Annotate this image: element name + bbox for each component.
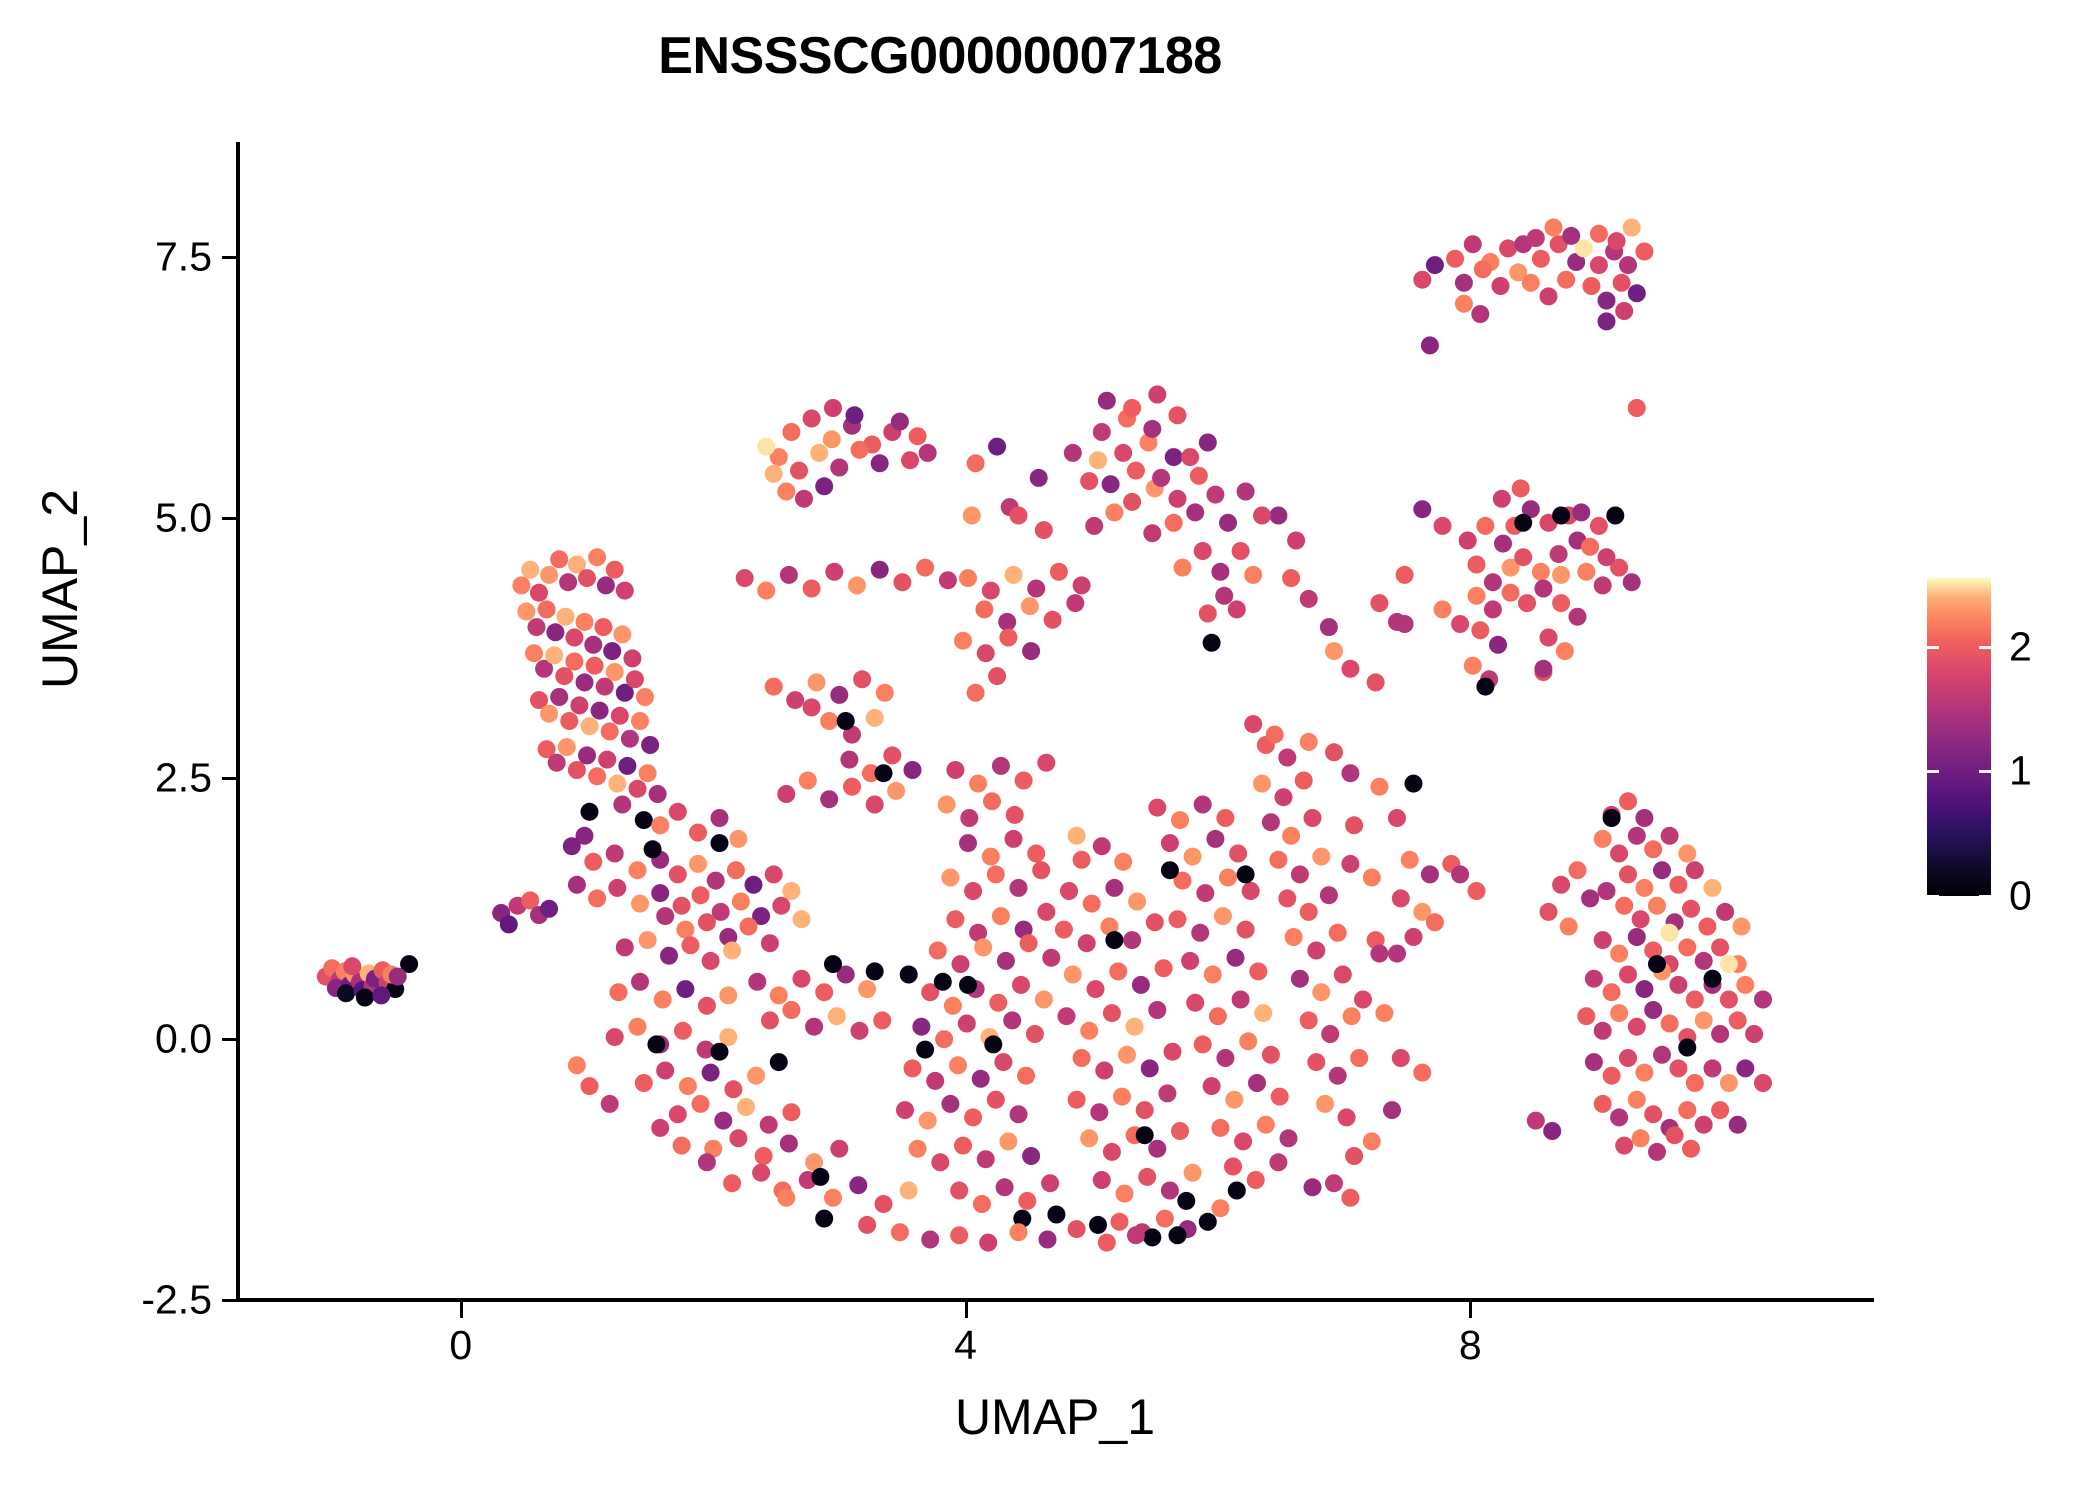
scatter-point — [1522, 274, 1540, 292]
scatter-point — [979, 1234, 997, 1252]
scatter-point — [1632, 910, 1650, 928]
scatter-point — [337, 984, 355, 1002]
scatter-point — [1603, 1067, 1621, 1085]
scatter-point — [765, 865, 783, 883]
scatter-point — [1590, 256, 1608, 274]
scatter-point — [904, 761, 922, 779]
scatter-point — [893, 573, 911, 591]
scatter-point — [1156, 1210, 1174, 1228]
scatter-point — [1421, 336, 1439, 354]
scatter-point — [1581, 538, 1599, 556]
scatter-point — [558, 738, 576, 756]
scatter-point — [1468, 882, 1486, 900]
scatter-point — [565, 653, 583, 671]
scatter-point — [1341, 660, 1359, 678]
scatter-point — [967, 454, 985, 472]
y-tick-label: -2.5 — [141, 1277, 212, 1324]
scatter-point — [1229, 845, 1247, 863]
scatter-point — [934, 973, 952, 991]
scatter-point — [1446, 250, 1464, 268]
scatter-point — [1022, 642, 1040, 660]
scatter-point — [1181, 952, 1199, 970]
scatter-point — [584, 853, 602, 871]
scatter-point — [1090, 1103, 1108, 1121]
scatter-point — [594, 618, 612, 636]
scatter-point — [891, 413, 909, 431]
scatter-point — [982, 582, 1000, 600]
scatter-point — [578, 569, 596, 587]
scatter-point — [623, 649, 641, 667]
scatter-point — [1237, 483, 1255, 501]
scatter-point — [1165, 448, 1183, 466]
scatter-point — [1247, 1171, 1265, 1189]
scatter-point — [1590, 225, 1608, 243]
scatter-point — [848, 576, 866, 594]
scatter-point — [1089, 451, 1107, 469]
scatter-point — [732, 893, 750, 911]
scatter-point — [1552, 507, 1570, 525]
scatter-point — [1577, 1007, 1595, 1025]
scatter-point — [597, 576, 615, 594]
scatter-point — [938, 796, 956, 814]
scatter-point — [1113, 1088, 1131, 1106]
scatter-point — [1648, 955, 1666, 973]
scatter-point — [1169, 490, 1187, 508]
scatter-point — [901, 451, 919, 469]
scatter-point — [1594, 1022, 1612, 1040]
scatter-point — [608, 879, 626, 897]
scatter-point — [689, 824, 707, 842]
scatter-point — [1635, 980, 1653, 998]
scatter-point — [873, 1011, 891, 1029]
scatter-point — [1300, 1011, 1318, 1029]
scatter-point — [1143, 420, 1161, 438]
scatter-point — [988, 667, 1006, 685]
scatter-point — [1089, 1216, 1107, 1234]
scatter-point — [629, 861, 647, 879]
scatter-point — [1572, 503, 1590, 521]
scatter-point — [1532, 250, 1550, 268]
scatter-point — [1413, 271, 1431, 289]
scatter-point — [723, 1174, 741, 1192]
scatter-point — [1711, 1101, 1729, 1119]
scatter-point — [1073, 851, 1091, 869]
scatter-point — [825, 563, 843, 581]
scatter-point — [1421, 865, 1439, 883]
scatter-point — [1027, 580, 1045, 598]
scatter-point — [525, 644, 543, 662]
scatter-point — [1109, 962, 1127, 980]
scatter-point — [1686, 1074, 1704, 1092]
scatter-point — [606, 845, 624, 863]
scatter-point — [1199, 434, 1217, 452]
scatter-point — [1148, 1140, 1166, 1158]
scatter-point — [1543, 1122, 1561, 1140]
scatter-point — [811, 1168, 829, 1186]
scatter-point — [954, 1137, 972, 1155]
scatter-point — [853, 670, 871, 688]
scatter-point — [1184, 1164, 1202, 1182]
scatter-point — [568, 1056, 586, 1074]
scatter-point — [500, 915, 518, 933]
scatter-point — [772, 897, 790, 915]
scatter-point — [803, 410, 821, 428]
scatter-point — [1534, 580, 1552, 598]
scatter-point — [793, 970, 811, 988]
scatter-point — [1064, 966, 1082, 984]
scatter-point — [1199, 1213, 1217, 1231]
scatter-point — [1164, 1043, 1182, 1061]
scatter-point — [830, 459, 848, 477]
scatter-point — [1136, 1126, 1154, 1144]
scatter-point — [1619, 256, 1637, 274]
scatter-point — [1285, 928, 1303, 946]
scatter-point — [1603, 809, 1621, 827]
scatter-point — [1585, 970, 1603, 988]
scatter-point — [540, 900, 558, 918]
scatter-point — [644, 840, 662, 858]
scatter-point — [1367, 673, 1385, 691]
scatter-point — [752, 1164, 770, 1182]
y-tick-mark — [222, 1299, 238, 1302]
scatter-point — [1341, 1189, 1359, 1207]
scatter-point — [1704, 1059, 1722, 1077]
scatter-point — [1228, 600, 1246, 618]
scatter-point — [1068, 1091, 1086, 1109]
scatter-point — [1669, 876, 1687, 894]
scatter-point — [1237, 865, 1255, 883]
scatter-point — [1141, 1059, 1159, 1077]
scatter-point — [900, 966, 918, 984]
scatter-point — [559, 573, 577, 591]
scatter-point — [1186, 994, 1204, 1012]
scatter-point — [588, 767, 606, 785]
scatter-point — [1312, 848, 1330, 866]
scatter-point — [1550, 545, 1568, 563]
scatter-point — [1022, 1147, 1040, 1165]
scatter-point — [1729, 1011, 1747, 1029]
scatter-point — [1266, 726, 1284, 744]
scatter-point — [992, 907, 1010, 925]
scatter-point — [1224, 1158, 1242, 1176]
scatter-point — [755, 1147, 773, 1165]
scatter-point — [676, 980, 694, 998]
scatter-point — [1729, 1116, 1747, 1134]
scatter-point — [1455, 295, 1473, 313]
scatter-point — [921, 1231, 939, 1249]
scatter-point — [517, 603, 535, 621]
scatter-point — [1648, 1143, 1666, 1161]
scatter-point — [883, 746, 901, 764]
scatter-point — [941, 869, 959, 887]
scatter-point — [782, 1103, 800, 1121]
x-axis-title: UMAP_1 — [236, 1388, 1874, 1446]
y-tick-mark — [222, 777, 238, 780]
scatter-point — [1560, 918, 1578, 936]
scatter-point — [656, 1062, 674, 1080]
scatter-point — [1711, 938, 1729, 956]
scatter-point — [904, 1059, 922, 1077]
colorbar-label: 0 — [2009, 873, 2032, 920]
scatter-point — [581, 1077, 599, 1095]
scatter-point — [969, 775, 987, 793]
scatter-point — [988, 438, 1006, 456]
scatter-point — [616, 938, 634, 956]
scatter-point — [1021, 597, 1039, 615]
scatter-point — [654, 991, 672, 1009]
scatter-point — [1405, 775, 1423, 793]
scatter-point — [941, 1095, 959, 1113]
scatter-point — [1720, 1074, 1738, 1092]
scatter-point — [1678, 845, 1696, 863]
scatter-point — [1341, 855, 1359, 873]
scatter-point — [1615, 1137, 1633, 1155]
scatter-point — [1215, 587, 1233, 605]
scatter-point — [959, 976, 977, 994]
scatter-point — [1648, 897, 1666, 915]
scatter-point — [1644, 840, 1662, 858]
scatter-point — [1055, 921, 1073, 939]
scatter-point — [1005, 566, 1023, 584]
y-tick-mark — [222, 517, 238, 520]
page-title: ENSSSCG00000007188 — [0, 26, 1880, 86]
scatter-point — [719, 986, 737, 1004]
colorbar-label: 2 — [2009, 623, 2032, 670]
scatter-point — [1191, 924, 1209, 942]
scatter-point — [777, 1189, 795, 1207]
x-axis-line — [236, 1298, 1874, 1302]
scatter-point — [1249, 962, 1267, 980]
scatter-point — [1278, 749, 1296, 767]
scatter-point — [891, 1223, 909, 1241]
scatter-point — [1610, 1004, 1628, 1022]
scatter-point — [606, 1028, 624, 1046]
scatter-point — [919, 1112, 937, 1130]
scatter-point — [1666, 1126, 1684, 1144]
scatter-point — [1161, 861, 1179, 879]
scatter-point — [1321, 1025, 1339, 1043]
scatter-point — [1623, 573, 1641, 591]
scatter-points-layer — [240, 142, 1874, 1300]
y-tick-label: 2.5 — [155, 755, 212, 802]
scatter-point — [931, 1153, 949, 1171]
scatter-point — [1396, 566, 1414, 584]
scatter-point — [711, 1043, 729, 1061]
scatter-point — [1181, 448, 1199, 466]
scatter-point — [1527, 1112, 1545, 1130]
scatter-point — [1307, 1053, 1325, 1071]
scatter-point — [1711, 1025, 1729, 1043]
scatter-point — [631, 712, 649, 730]
colorbar-tick — [1979, 646, 1991, 649]
scatter-point — [954, 632, 972, 650]
scatter-point — [639, 764, 657, 782]
scatter-point — [1114, 853, 1132, 871]
scatter-point — [1087, 980, 1105, 998]
scatter-point — [1451, 615, 1469, 633]
scatter-point — [1704, 970, 1722, 988]
scatter-point — [1177, 1192, 1195, 1210]
scatter-point — [1211, 1119, 1229, 1137]
scatter-point — [647, 1035, 665, 1053]
scatter-point — [1194, 796, 1212, 814]
scatter-point — [530, 584, 548, 602]
scatter-point — [1219, 869, 1237, 887]
scatter-point — [815, 477, 833, 495]
scatter-point — [565, 629, 583, 647]
scatter-point — [1669, 1059, 1687, 1077]
scatter-point — [1334, 966, 1352, 984]
scatter-point — [987, 1091, 1005, 1109]
scatter-point — [805, 1018, 823, 1036]
scatter-point — [1227, 949, 1245, 967]
scatter-point — [649, 785, 667, 803]
scatter-point — [601, 722, 619, 740]
scatter-point — [1027, 845, 1045, 863]
scatter-point — [698, 997, 716, 1015]
scatter-point — [1010, 1105, 1028, 1123]
scatter-point — [603, 642, 621, 660]
scatter-point — [786, 691, 804, 709]
scatter-point — [606, 561, 624, 579]
scatter-point — [1459, 532, 1477, 550]
scatter-point — [611, 707, 629, 725]
scatter-point — [1262, 1046, 1280, 1064]
scatter-point — [1635, 879, 1653, 897]
scatter-point — [1606, 507, 1624, 525]
scatter-point — [1451, 865, 1469, 883]
scatter-point — [1005, 830, 1023, 848]
scatter-point — [1012, 976, 1030, 994]
scatter-point — [1598, 312, 1616, 330]
scatter-point — [1514, 548, 1532, 566]
scatter-point — [521, 561, 539, 579]
scatter-point — [560, 712, 578, 730]
scatter-point — [1282, 569, 1300, 587]
scatter-point — [1234, 1132, 1252, 1150]
scatter-point — [723, 942, 741, 960]
scatter-point — [1363, 869, 1381, 887]
scatter-point — [810, 444, 828, 462]
scatter-point — [1257, 1116, 1275, 1134]
scatter-point — [1619, 792, 1637, 810]
scatter-point — [669, 803, 687, 821]
scatter-point — [596, 678, 614, 696]
scatter-point — [578, 746, 596, 764]
scatter-point — [1474, 260, 1492, 278]
scatter-point — [1269, 507, 1287, 525]
scatter-point — [803, 580, 821, 598]
scatter-point — [1720, 955, 1738, 973]
scatter-point — [1203, 634, 1221, 652]
scatter-point — [950, 1182, 968, 1200]
scatter-point — [1165, 514, 1183, 532]
scatter-point — [540, 705, 558, 723]
scatter-point — [557, 608, 575, 626]
scatter-point — [1434, 600, 1452, 618]
scatter-point — [1196, 884, 1214, 902]
scatter-point — [540, 566, 558, 584]
scatter-point — [621, 730, 639, 748]
scatter-point — [1345, 816, 1363, 834]
scatter-point — [729, 1129, 747, 1147]
scatter-point — [692, 886, 710, 904]
scatter-point — [1341, 764, 1359, 782]
scatter-point — [576, 673, 594, 691]
scatter-point — [698, 913, 716, 931]
scatter-point — [1073, 576, 1091, 594]
scatter-point — [1471, 621, 1489, 639]
scatter-point — [871, 561, 889, 579]
x-tick-label: 4 — [954, 1322, 977, 1369]
scatter-point — [946, 910, 964, 928]
scatter-point — [815, 1210, 833, 1228]
scatter-point — [1300, 733, 1318, 751]
scatter-point — [1635, 809, 1653, 827]
scatter-point — [1682, 900, 1700, 918]
scatter-point — [858, 980, 876, 998]
scatter-point — [1171, 811, 1189, 829]
scatter-point — [1518, 594, 1536, 612]
scatter-point — [745, 876, 763, 894]
scatter-point — [626, 670, 644, 688]
scatter-point — [803, 698, 821, 716]
scatter-point — [727, 861, 745, 879]
scatter-point — [1320, 886, 1338, 904]
scatter-point — [1556, 642, 1574, 660]
scatter-point — [977, 1150, 995, 1168]
scatter-point — [1204, 966, 1222, 984]
scatter-point — [1540, 903, 1558, 921]
scatter-point — [651, 816, 669, 834]
scatter-point — [1169, 406, 1187, 424]
scatter-point — [820, 712, 838, 730]
scatter-point — [1678, 938, 1696, 956]
colorbar-legend — [1927, 578, 1991, 896]
scatter-point — [1594, 1095, 1612, 1113]
scatter-point — [780, 1135, 798, 1153]
scatter-point — [1338, 1108, 1356, 1126]
scatter-point — [1116, 1185, 1134, 1203]
scatter-point — [1291, 865, 1309, 883]
scatter-point — [1623, 219, 1641, 237]
scatter-point — [1228, 1182, 1246, 1200]
scatter-point — [1383, 1101, 1401, 1119]
scatter-point — [1225, 1091, 1243, 1109]
scatter-point — [1635, 1064, 1653, 1082]
scatter-point — [1219, 514, 1237, 532]
scatter-point — [1471, 305, 1489, 323]
scatter-point — [1464, 235, 1482, 253]
scatter-point — [1103, 1004, 1121, 1022]
scatter-point — [1632, 1129, 1650, 1147]
scatter-point — [1325, 642, 1343, 660]
scatter-point — [343, 957, 361, 975]
scatter-point — [1329, 1067, 1347, 1085]
scatter-point — [1037, 903, 1055, 921]
scatter-point — [1388, 809, 1406, 827]
scatter-point — [674, 1022, 692, 1040]
scatter-point — [1262, 813, 1280, 831]
scatter-point — [1307, 942, 1325, 960]
scatter-point — [1211, 1199, 1229, 1217]
scatter-point — [1271, 1088, 1289, 1106]
scatter-point — [651, 1119, 669, 1137]
scatter-point — [1254, 1004, 1272, 1022]
scatter-point — [1123, 399, 1141, 417]
scatter-point — [1653, 861, 1671, 879]
scatter-point — [1754, 991, 1772, 1009]
